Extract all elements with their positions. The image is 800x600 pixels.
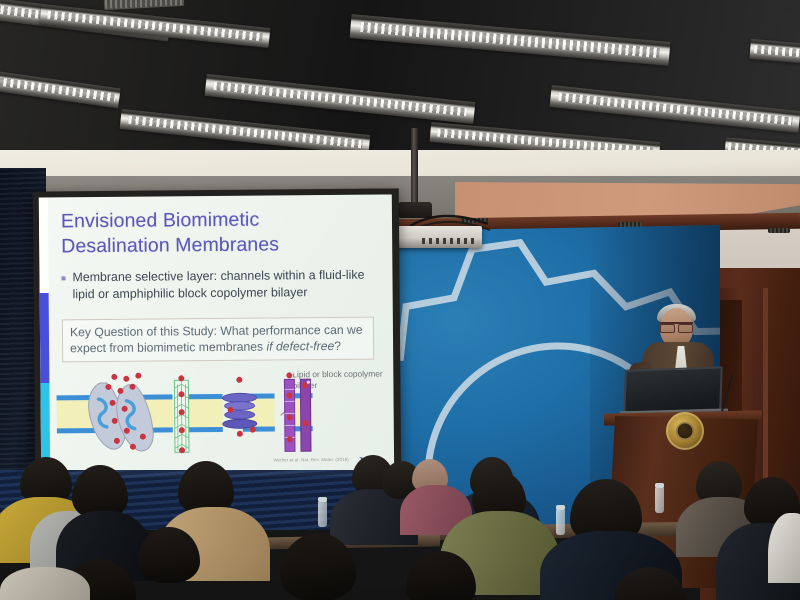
slide-accent-bar — [39, 197, 50, 478]
water-bottle — [556, 509, 565, 535]
key-question-suffix: ? — [334, 339, 341, 353]
slide-bullet: Membrane selective layer: channels withi… — [61, 267, 376, 303]
key-question-italic: if defect-free — [266, 339, 334, 354]
projection-screen: Envisioned Biomimetic Desalination Membr… — [39, 194, 394, 478]
biomimetic-membrane-diagram — [56, 371, 313, 459]
slide-title: Envisioned Biomimetic Desalination Membr… — [61, 207, 361, 260]
slide-title-line2: Desalination Membranes — [61, 232, 361, 260]
slide-title-line1: Envisioned Biomimetic — [61, 207, 361, 235]
audience-body — [0, 567, 90, 600]
ceiling-speaker-grille — [768, 228, 790, 233]
key-question-box: Key Question of this Study: What perform… — [62, 317, 374, 363]
bottle-cap — [655, 483, 664, 488]
water-molecule-hydrogens — [116, 371, 310, 385]
carbon-nanotube-channel — [174, 380, 189, 452]
eyeglasses-icon — [660, 322, 693, 329]
bottle-cap — [318, 497, 327, 502]
presenter-laptop-screen — [623, 366, 722, 414]
water-bottle — [655, 487, 664, 513]
bottle-cap — [556, 505, 565, 510]
presenter-group — [630, 300, 750, 480]
podium-emblem-inner — [676, 422, 694, 440]
seated-audience — [0, 455, 800, 600]
projector-mount-pole — [411, 128, 418, 210]
slide-bullet-text: Membrane selective layer: channels withi… — [72, 267, 376, 303]
lecture-hall-scene: Envisioned Biomimetic Desalination Membr… — [0, 0, 800, 600]
water-bottle — [318, 501, 327, 527]
bullet-square-icon — [61, 276, 65, 280]
